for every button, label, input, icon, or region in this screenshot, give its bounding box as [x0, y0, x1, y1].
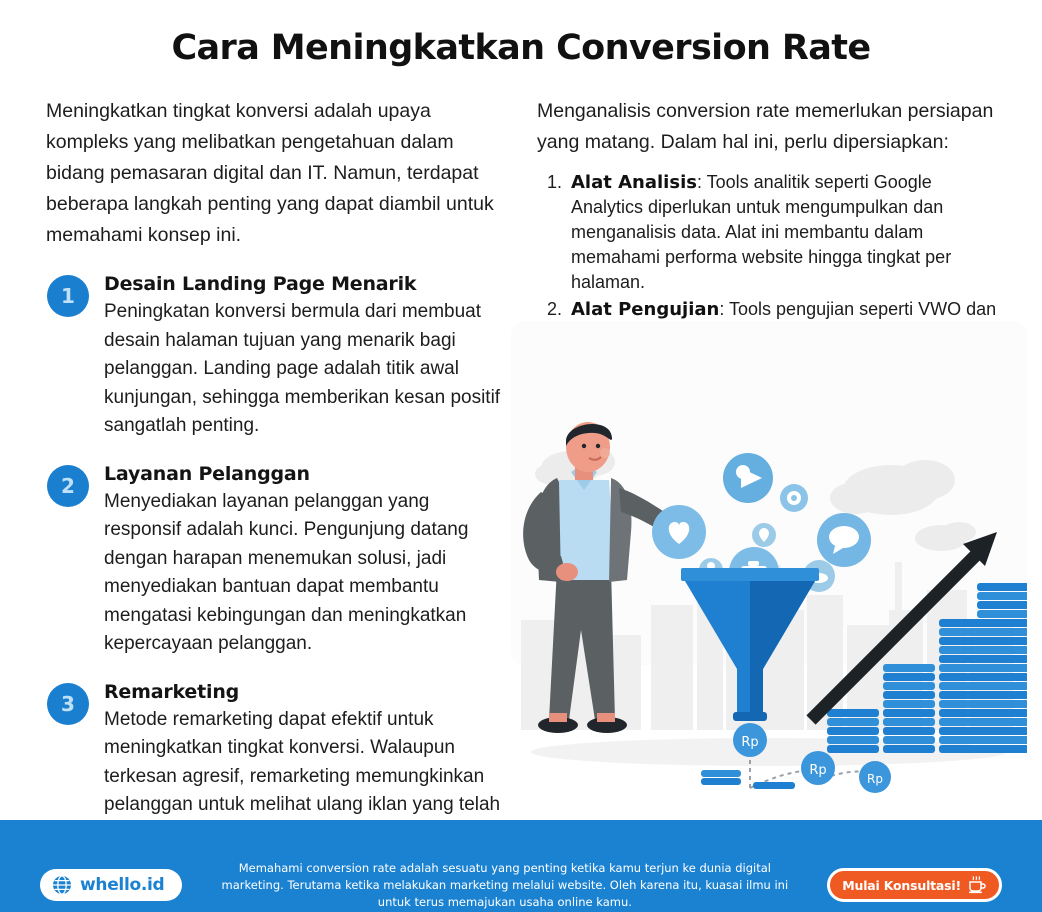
- gear-hole: [791, 495, 797, 501]
- loose-coins: [701, 770, 795, 789]
- ground-shadow: [531, 738, 1007, 766]
- step-badge-2: 2: [47, 465, 89, 507]
- step-item-2: 2 Layanan Pelanggan Menyediakan layanan …: [46, 463, 501, 659]
- coffee-cup-icon: [967, 876, 987, 894]
- coin-stack-1: [827, 709, 879, 753]
- step-badge-1: 1: [47, 275, 89, 317]
- camera-top: [748, 561, 759, 566]
- left-column: Meningkatkan tingkat konversi adalah upa…: [46, 96, 501, 899]
- play-dot: [736, 465, 750, 479]
- brand-pill[interactable]: whello.id: [40, 869, 182, 901]
- right-intro-paragraph: Menganalisis conversion rate memerlukan …: [537, 96, 997, 158]
- chat-glyph: [829, 526, 859, 548]
- funnel-neck-shade: [750, 669, 763, 717]
- coin-stack-4: [977, 583, 1027, 753]
- ankle-left: [549, 713, 567, 722]
- list-item-lead: Alat Analisis: [571, 172, 697, 193]
- list-item: Alat Analisis: Tools analitik seperti Go…: [567, 170, 997, 295]
- footer-inner: whello.id Memahami conversion rate adala…: [0, 858, 1042, 912]
- mulai-konsultasi-button[interactable]: Mulai Konsultasi!: [827, 868, 1002, 902]
- conversion-funnel-illustration: Rp Rp Rp: [511, 420, 1027, 805]
- left-intro-paragraph: Meningkatkan tingkat konversi adalah upa…: [46, 96, 501, 251]
- wave-decoration: [0, 819, 1042, 857]
- funnel-tip: [733, 712, 767, 721]
- eye: [596, 444, 600, 448]
- step-title-3: Remarketing: [104, 681, 501, 703]
- rp-coin-ground-1-label: Rp: [809, 763, 826, 778]
- hand-left: [556, 563, 578, 581]
- rp-coin-ground-2-label: Rp: [867, 772, 883, 786]
- footer: whello.id Memahami conversion rate adala…: [0, 820, 1042, 912]
- step-item-1: 1 Desain Landing Page Menarik Peningkata…: [46, 273, 501, 441]
- list-item-lead: Alat Pengujian: [571, 299, 719, 320]
- infographic-page: Cara Meningkatkan Conversion Rate Mening…: [0, 0, 1042, 912]
- step-badge-3: 3: [47, 683, 89, 725]
- step-title-1: Desain Landing Page Menarik: [104, 273, 501, 295]
- funnel-rim: [681, 568, 819, 581]
- ankle-right: [597, 713, 615, 722]
- eye: [582, 444, 586, 448]
- step-body-2: Menyediakan layanan pelanggan yang respo…: [104, 488, 501, 659]
- rp-coin-funnel-label: Rp: [741, 735, 758, 750]
- cheek: [600, 448, 610, 458]
- globe-icon: [52, 875, 72, 895]
- cta-label: Mulai Konsultasi!: [842, 878, 961, 893]
- step-body-1: Peningkatan konversi bermula dari membua…: [104, 298, 501, 441]
- step-title-2: Layanan Pelanggan: [104, 463, 501, 485]
- illustration-svg: Rp Rp Rp: [511, 420, 1027, 805]
- footer-description: Memahami conversion rate adalah sesuatu …: [182, 860, 827, 911]
- page-title: Cara Meningkatkan Conversion Rate: [0, 26, 1042, 70]
- brand-label: whello.id: [80, 875, 164, 895]
